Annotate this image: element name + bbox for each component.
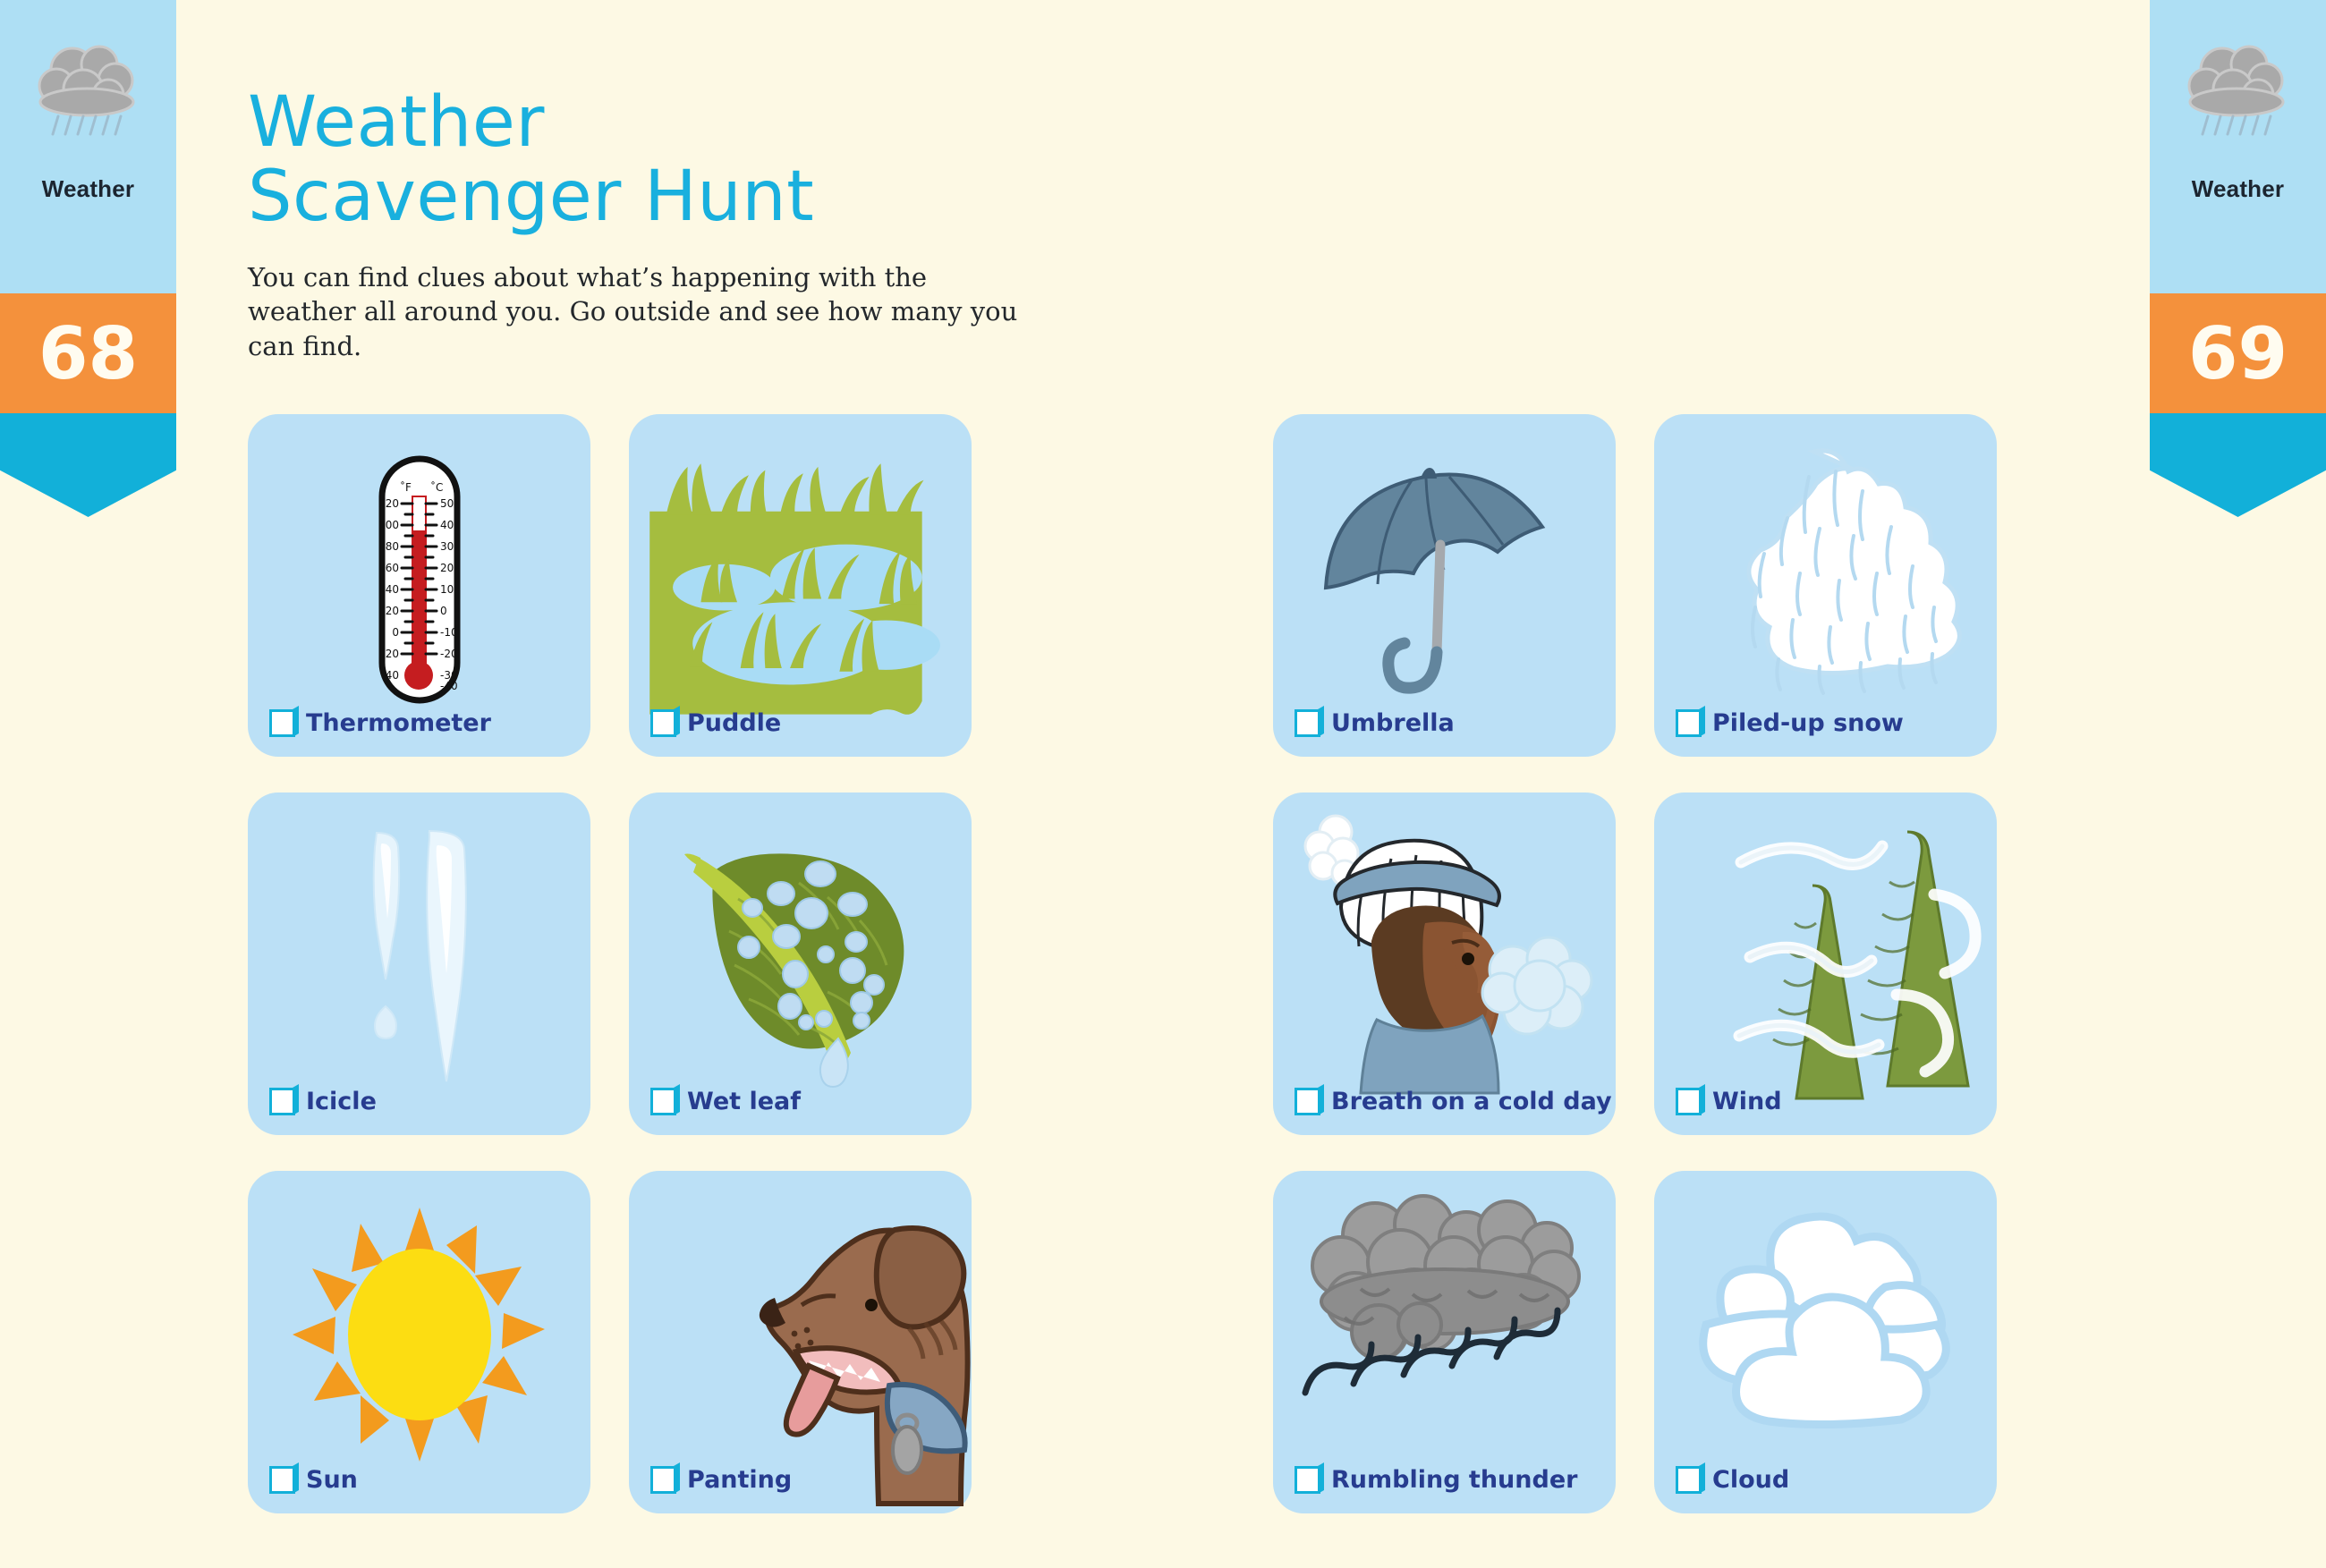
item-label: Sun bbox=[306, 1466, 358, 1494]
checkbox[interactable] bbox=[650, 709, 676, 737]
card-art-clip: ˚F ˚C bbox=[248, 414, 590, 757]
checkbox-row[interactable]: Breath on a cold day bbox=[1295, 1088, 1612, 1115]
sun-icon bbox=[248, 1171, 590, 1513]
checkbox[interactable] bbox=[1676, 1088, 1702, 1115]
checkbox[interactable] bbox=[269, 709, 295, 737]
svg-text:-40: -40 bbox=[381, 669, 399, 682]
checkbox[interactable] bbox=[269, 1466, 295, 1494]
card-cloud[interactable]: Cloud bbox=[1654, 1171, 1997, 1513]
card-icicle[interactable]: Icicle bbox=[248, 792, 590, 1135]
icicle-icon bbox=[248, 792, 590, 1135]
item-label: Panting bbox=[687, 1466, 792, 1494]
card-art-clip bbox=[248, 1171, 590, 1513]
checkbox[interactable] bbox=[650, 1088, 676, 1115]
svg-text:-20: -20 bbox=[440, 648, 458, 660]
snow-pile-icon bbox=[1654, 414, 1997, 757]
card-art-clip bbox=[1273, 414, 1616, 757]
left-tab-chapter-label: Weather bbox=[42, 175, 135, 203]
svg-text:20: 20 bbox=[440, 562, 454, 574]
card-piled-up-snow[interactable]: Piled-up snow bbox=[1654, 414, 1997, 757]
svg-text:80: 80 bbox=[385, 540, 398, 553]
checkbox[interactable] bbox=[1295, 1466, 1320, 1494]
left-page-number: 68 bbox=[0, 293, 176, 413]
item-label: Icicle bbox=[306, 1088, 377, 1115]
wet-leaf-icon bbox=[629, 792, 972, 1135]
checkbox-row[interactable]: Piled-up snow bbox=[1676, 709, 1904, 737]
checkbox-row[interactable]: Icicle bbox=[269, 1088, 377, 1115]
right-tab-top: Weather bbox=[2150, 0, 2326, 293]
checkbox-row[interactable]: Puddle bbox=[650, 709, 781, 737]
card-thermometer[interactable]: ˚F ˚C bbox=[248, 414, 590, 757]
left-page-card-grid: ˚F ˚C bbox=[248, 414, 972, 1513]
card-art-clip bbox=[248, 792, 590, 1135]
white-cloud-icon bbox=[1654, 1171, 1997, 1513]
checkbox[interactable] bbox=[650, 1466, 676, 1494]
item-label: Thermometer bbox=[306, 709, 491, 737]
svg-text:˚C: ˚C bbox=[430, 480, 443, 494]
checkbox[interactable] bbox=[1295, 1088, 1320, 1115]
svg-text:-10: -10 bbox=[440, 626, 458, 639]
thermometer-icon: ˚F ˚C bbox=[248, 414, 590, 757]
card-art-clip bbox=[1273, 792, 1616, 1135]
item-label: Wet leaf bbox=[687, 1088, 801, 1115]
checkbox[interactable] bbox=[1676, 1466, 1702, 1494]
rain-cloud-icon bbox=[26, 34, 151, 159]
card-art-clip bbox=[1654, 1171, 1997, 1513]
svg-text:120: 120 bbox=[378, 497, 399, 510]
panting-dog-icon bbox=[629, 1171, 972, 1513]
svg-text:-20: -20 bbox=[381, 648, 399, 660]
right-tab-chapter-label: Weather bbox=[2192, 175, 2285, 203]
svg-text:10: 10 bbox=[440, 583, 454, 596]
page-spread: Weather 68 Weather 69 bbox=[0, 0, 2326, 1568]
card-art-clip bbox=[1273, 1171, 1616, 1513]
card-puddle[interactable]: Puddle bbox=[629, 414, 972, 757]
checkbox-row[interactable]: Thermometer bbox=[269, 709, 491, 737]
page-subtitle: You can find clues about what’s happenin… bbox=[248, 260, 1035, 364]
svg-text:100: 100 bbox=[378, 519, 399, 531]
svg-text:50: 50 bbox=[440, 497, 454, 510]
puddle-grass-icon bbox=[629, 414, 972, 757]
checkbox-row[interactable]: Umbrella bbox=[1295, 709, 1455, 737]
checkbox-row[interactable]: Wet leaf bbox=[650, 1088, 801, 1115]
left-tab-point bbox=[0, 413, 176, 517]
svg-text:-40: -40 bbox=[440, 680, 458, 692]
card-umbrella[interactable]: Umbrella bbox=[1273, 414, 1616, 757]
item-label: Piled-up snow bbox=[1712, 709, 1904, 737]
wind-trees-icon bbox=[1654, 792, 1997, 1135]
checkbox-row[interactable]: Cloud bbox=[1676, 1466, 1789, 1494]
left-tab-top: Weather bbox=[0, 0, 176, 293]
svg-text:˚F: ˚F bbox=[400, 480, 412, 494]
item-label: Breath on a cold day bbox=[1331, 1088, 1612, 1115]
card-wet-leaf[interactable]: Wet leaf bbox=[629, 792, 972, 1135]
right-page-tab: Weather 69 bbox=[2150, 0, 2326, 517]
item-label: Rumbling thunder bbox=[1331, 1466, 1577, 1494]
svg-text:60: 60 bbox=[385, 562, 398, 574]
page-title-line2: Scavenger Hunt bbox=[248, 160, 1035, 234]
breath-child-icon bbox=[1273, 792, 1616, 1135]
svg-text:0: 0 bbox=[440, 605, 447, 617]
checkbox-row[interactable]: Rumbling thunder bbox=[1295, 1466, 1577, 1494]
svg-text:40: 40 bbox=[440, 519, 454, 531]
svg-text:30: 30 bbox=[440, 540, 454, 553]
card-wind[interactable]: Wind bbox=[1654, 792, 1997, 1135]
item-label: Wind bbox=[1712, 1088, 1782, 1115]
card-panting[interactable]: Panting bbox=[629, 1171, 972, 1513]
page-title: Weather Scavenger Hunt bbox=[248, 86, 1035, 235]
card-sun[interactable]: Sun bbox=[248, 1171, 590, 1513]
item-label: Puddle bbox=[687, 709, 781, 737]
checkbox[interactable] bbox=[1295, 709, 1320, 737]
svg-text:0: 0 bbox=[392, 626, 399, 639]
page-header: Weather Scavenger Hunt You can find clue… bbox=[248, 86, 1035, 364]
right-page-number: 69 bbox=[2150, 293, 2326, 413]
left-page-tab: Weather 68 bbox=[0, 0, 176, 517]
thunder-cloud-icon bbox=[1273, 1171, 1616, 1513]
svg-text:20: 20 bbox=[385, 605, 398, 617]
card-rumbling-thunder[interactable]: Rumbling thunder bbox=[1273, 1171, 1616, 1513]
checkbox-row[interactable]: Wind bbox=[1676, 1088, 1782, 1115]
umbrella-icon bbox=[1273, 414, 1616, 757]
item-label: Umbrella bbox=[1331, 709, 1455, 737]
checkbox-row[interactable]: Sun bbox=[269, 1466, 358, 1494]
page-title-line1: Weather bbox=[248, 86, 1035, 160]
checkbox[interactable] bbox=[269, 1088, 295, 1115]
checkbox-row[interactable]: Panting bbox=[650, 1466, 792, 1494]
right-page-card-grid: Umbrella bbox=[1273, 414, 1997, 1513]
card-breath-on-a-cold-day[interactable]: Breath on a cold day bbox=[1273, 792, 1616, 1135]
rain-cloud-icon bbox=[2176, 34, 2301, 159]
item-label: Cloud bbox=[1712, 1466, 1789, 1494]
checkbox[interactable] bbox=[1676, 709, 1702, 737]
svg-text:40: 40 bbox=[385, 583, 398, 596]
right-tab-point bbox=[2150, 413, 2326, 517]
